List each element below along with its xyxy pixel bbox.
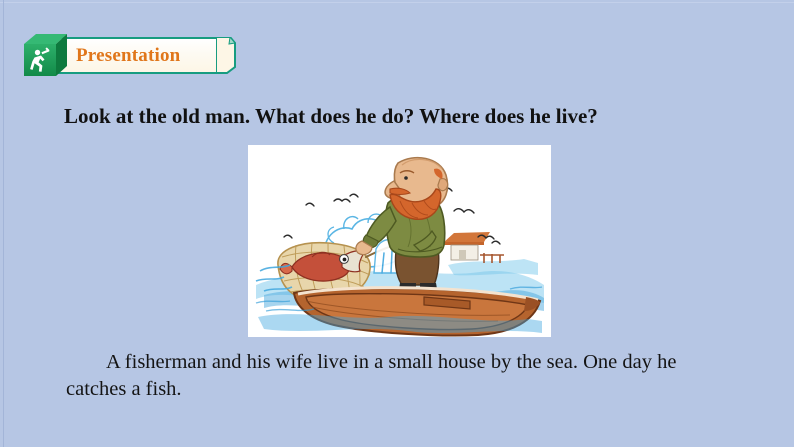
- green-cube-runner-icon: [20, 30, 76, 82]
- left-edge-rule: [3, 0, 4, 447]
- presentation-banner: Presentation: [20, 30, 220, 80]
- slide-canvas: Presentation Look at the old man. What d…: [0, 0, 794, 447]
- story-paragraph: A fisherman and his wife live in a small…: [66, 349, 738, 403]
- top-edge-rule: [0, 2, 794, 3]
- question-heading: Look at the old man. What does he do? Wh…: [64, 103, 764, 129]
- fisherman-illustration: [248, 145, 551, 337]
- banner-label: Presentation: [76, 42, 226, 69]
